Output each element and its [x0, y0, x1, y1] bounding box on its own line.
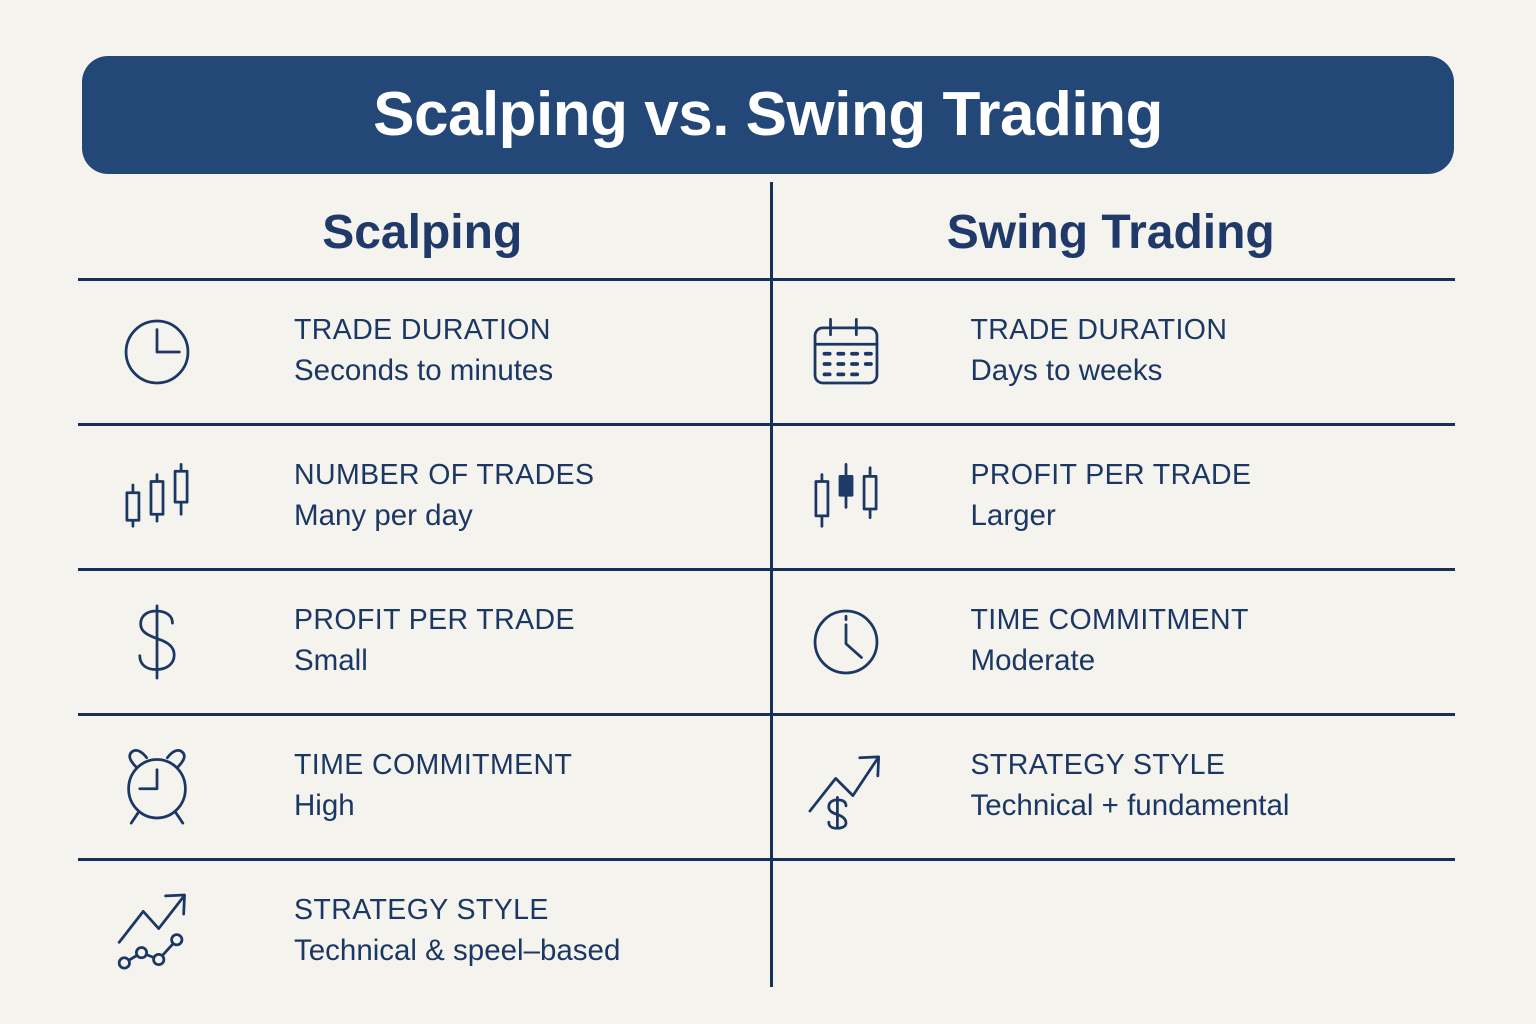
table-cell-right: TRADE DURATION Days to weeks: [767, 281, 1456, 423]
row-value: Technical + fundamental: [971, 787, 1290, 825]
clock-icon: [102, 297, 212, 407]
row-value: Technical & speel–based: [294, 932, 620, 970]
row-value: High: [294, 787, 572, 825]
row-label: STRATEGY STYLE: [971, 747, 1290, 783]
cell-text: TRADE DURATION Seconds to minutes: [212, 312, 553, 391]
column-headers: Scalping Swing Trading: [78, 188, 1455, 278]
table-cell-left: NUMBER OF TRADES Many per day: [78, 426, 767, 568]
row-value: Moderate: [971, 642, 1249, 680]
cell-text: STRATEGY STYLE Technical & speel–based: [212, 892, 620, 971]
calendar-icon: [791, 297, 901, 407]
row-value: Days to weeks: [971, 352, 1228, 390]
infographic-root: Scalping vs. Swing Trading Scalping Swin…: [0, 0, 1536, 1024]
row-value: Larger: [971, 497, 1252, 535]
trend-arrow-dollar-icon: [791, 732, 901, 842]
table-cell-right: STRATEGY STYLE Technical + fundamental: [767, 716, 1456, 858]
cell-text: PROFIT PER TRADE Small: [212, 602, 575, 681]
column-header-scalping: Scalping: [78, 188, 767, 278]
row-value: Seconds to minutes: [294, 352, 553, 390]
table-row: NUMBER OF TRADES Many per day: [78, 423, 1455, 568]
row-label: TIME COMMITMENT: [971, 602, 1249, 638]
table-cell-left: STRATEGY STYLE Technical & speel–based: [78, 861, 767, 1003]
trend-arrow-points-icon: [102, 877, 212, 987]
candlestick-filled-icon: [791, 442, 901, 552]
row-value: Small: [294, 642, 575, 680]
cell-text: TIME COMMITMENT High: [212, 747, 572, 826]
row-value: Many per day: [294, 497, 594, 535]
alarm-clock-icon: [102, 732, 212, 842]
row-label: TIME COMMITMENT: [294, 747, 572, 783]
row-label: PROFIT PER TRADE: [971, 457, 1252, 493]
dollar-sign-icon: [102, 587, 212, 697]
table-cell-left: PROFIT PER TRADE Small: [78, 571, 767, 713]
cell-text: TRADE DURATION Days to weeks: [901, 312, 1228, 391]
row-label: PROFIT PER TRADE: [294, 602, 575, 638]
table-cell-left: TRADE DURATION Seconds to minutes: [78, 281, 767, 423]
table-row: PROFIT PER TRADE Small TIME COMMITMENT M…: [78, 568, 1455, 713]
row-label: TRADE DURATION: [971, 312, 1228, 348]
comparison-table: TRADE DURATION Seconds to minutes: [78, 278, 1455, 1003]
column-header-swing-trading: Swing Trading: [767, 188, 1456, 278]
candlestick-icon: [102, 442, 212, 552]
row-label: STRATEGY STYLE: [294, 892, 620, 928]
row-label: TRADE DURATION: [294, 312, 553, 348]
cell-text: TIME COMMITMENT Moderate: [901, 602, 1249, 681]
table-cell-right: PROFIT PER TRADE Larger: [767, 426, 1456, 568]
table-row: TRADE DURATION Seconds to minutes: [78, 278, 1455, 423]
page-title: Scalping vs. Swing Trading: [373, 84, 1163, 146]
table-cell-left: TIME COMMITMENT High: [78, 716, 767, 858]
row-label: NUMBER OF TRADES: [294, 457, 594, 493]
cell-text: PROFIT PER TRADE Larger: [901, 457, 1252, 536]
clock-moderate-icon: [791, 587, 901, 697]
table-cell-right: TIME COMMITMENT Moderate: [767, 571, 1456, 713]
cell-text: NUMBER OF TRADES Many per day: [212, 457, 594, 536]
table-row: STRATEGY STYLE Technical & speel–based: [78, 858, 1455, 1003]
title-bar: Scalping vs. Swing Trading: [82, 56, 1454, 174]
cell-text: STRATEGY STYLE Technical + fundamental: [901, 747, 1290, 826]
table-row: TIME COMMITMENT High STRATEGY STYLE Tech…: [78, 713, 1455, 858]
